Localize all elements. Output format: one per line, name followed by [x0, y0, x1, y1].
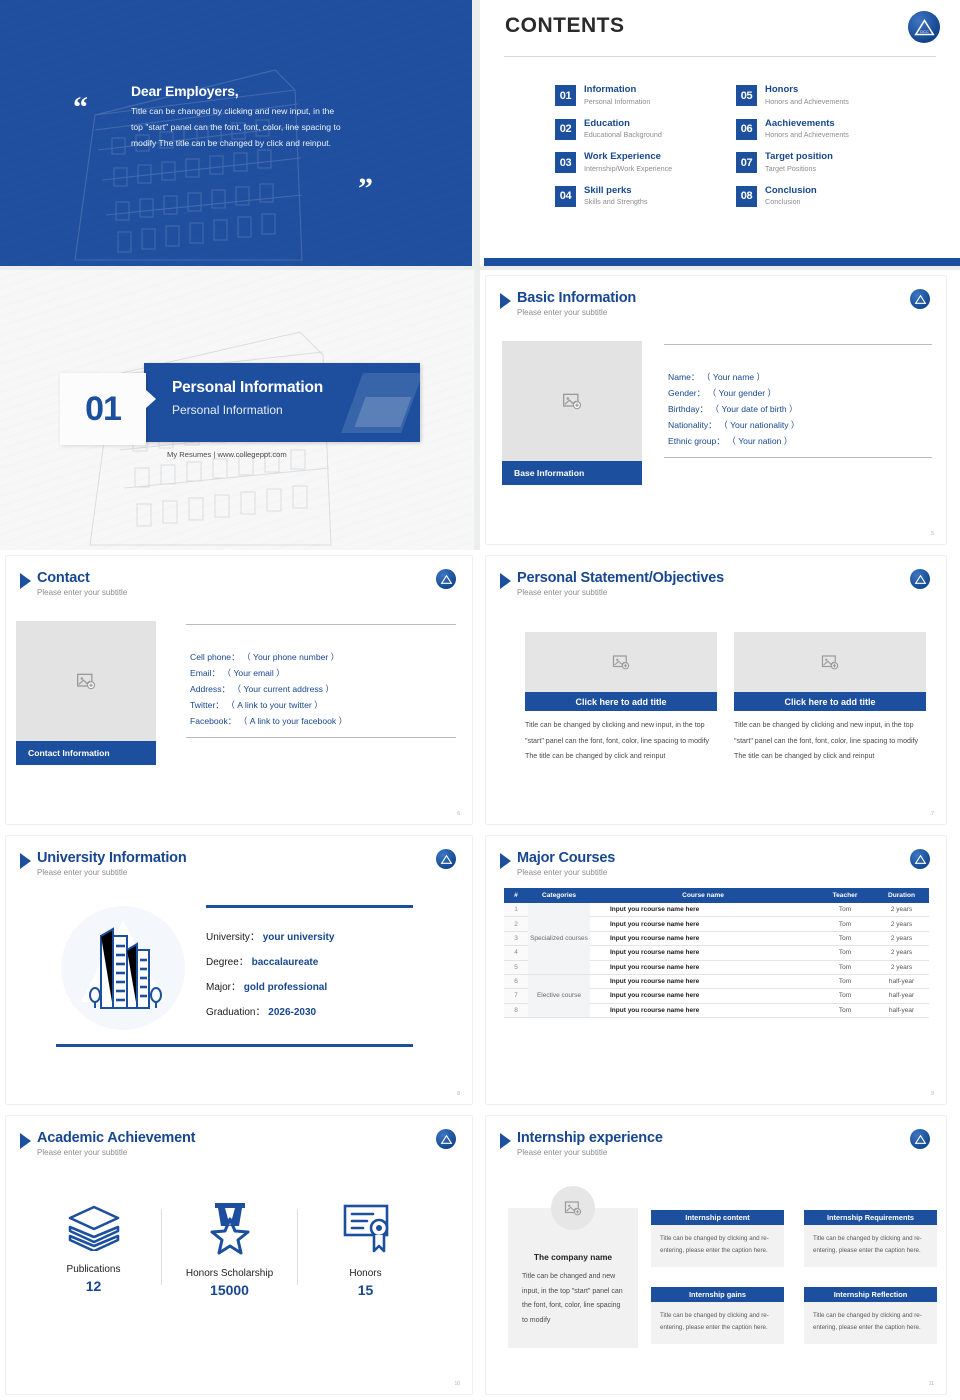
- info-value: （ Your name ）: [702, 372, 765, 382]
- brand-logo: DCC: [908, 11, 940, 43]
- contents-item-sub: Conclusion: [765, 197, 817, 206]
- cell-duration: 2 years: [874, 960, 929, 974]
- page-subtitle: Please enter your subtitle: [517, 588, 724, 597]
- university-row: Graduation： 2026-2030: [206, 1003, 334, 1018]
- info-row: Name： （ Your name ）: [668, 370, 932, 386]
- university-field-list: University： your university Degree： bacc…: [206, 928, 334, 1018]
- page-title: Personal Statement/Objectives: [517, 570, 724, 587]
- brand-logo: [436, 569, 456, 589]
- info-value: （ Your current address ）: [233, 684, 334, 694]
- cell-duration: half-year: [874, 989, 929, 1003]
- card-body: Title can be changed by clicking and re-…: [651, 1302, 784, 1344]
- slide-deck: “ ” Dear Employers, Title can be changed…: [0, 0, 960, 1400]
- top-rule: [206, 905, 413, 908]
- section-byline: My Resumes | www.collegeppt.com: [167, 450, 287, 459]
- slide-header: University Information Please enter your…: [20, 850, 187, 877]
- quote-close-mark: ”: [358, 180, 373, 198]
- contents-grid: 01 Information Personal Information 05 H…: [555, 85, 905, 219]
- triangle-logo-icon: [440, 853, 453, 866]
- brand-logo: [436, 849, 456, 869]
- contents-item[interactable]: 03 Work Experience Internship/Work Exper…: [555, 152, 724, 173]
- info-value: （ Your phone number ）: [242, 652, 339, 662]
- internship-card[interactable]: Internship Requirements Title can be cha…: [804, 1210, 937, 1267]
- header-triangle-icon: [500, 853, 511, 869]
- info-row: Cell phone： （ Your phone number ）: [190, 650, 456, 666]
- info-value: （ A link to your facebook ）: [239, 716, 347, 726]
- row-value: gold professional: [244, 982, 327, 993]
- internship-card[interactable]: Internship content Title can be changed …: [651, 1210, 784, 1267]
- cover-quote-block: Dear Employers, Title can be changed by …: [131, 83, 346, 152]
- contents-item-sub: Educational Background: [584, 130, 662, 139]
- slide-internship-experience: Internship experience Please enter your …: [480, 1110, 960, 1400]
- row-value: baccalaureate: [252, 957, 319, 968]
- photo-placeholder[interactable]: [734, 632, 926, 692]
- bottom-rule: [56, 1044, 413, 1047]
- brand-logo: [910, 289, 930, 309]
- info-label: Nationality：: [668, 420, 717, 430]
- page-subtitle: Please enter your subtitle: [517, 868, 615, 877]
- page-number: 9: [931, 1091, 934, 1097]
- stat-item: Publications 12: [36, 1201, 151, 1294]
- card-title-bar[interactable]: Click here to add title: [525, 692, 717, 711]
- triangle-logo-icon: [914, 1133, 927, 1146]
- company-card: The company name Title can be changed an…: [508, 1208, 638, 1348]
- header-triangle-icon: [20, 853, 31, 869]
- contents-item[interactable]: 05 Honors Honors and Achievements: [736, 85, 905, 106]
- contents-item-title: Education: [584, 119, 662, 129]
- card-body: Title can be changed by clicking and re-…: [804, 1225, 937, 1267]
- stat-divider: [297, 1209, 298, 1285]
- company-body: Title can be changed and new input, in t…: [522, 1270, 626, 1329]
- contents-number: 08: [736, 186, 757, 207]
- card-header: Internship gains: [651, 1287, 784, 1302]
- contents-number: 03: [555, 152, 576, 173]
- page-title: Basic Information: [517, 290, 636, 307]
- contents-item-sub: Internship/Work Experience: [584, 164, 672, 173]
- row-value: 2026-2030: [268, 1007, 316, 1018]
- contents-number: 01: [555, 85, 576, 106]
- triangle-logo-icon: [440, 1133, 453, 1146]
- row-label: Degree：: [206, 957, 249, 968]
- photo-placeholder[interactable]: [16, 621, 156, 741]
- info-row: Email： （ Your email ）: [190, 666, 456, 682]
- contents-item[interactable]: 04 Skill perks Skills and Strengths: [555, 186, 724, 207]
- cell-course: Input you rcourse name here: [590, 903, 816, 917]
- cell-category: Specialized courses: [528, 903, 590, 974]
- page-title: Internship experience: [517, 1130, 663, 1147]
- cover-title: Dear Employers,: [131, 83, 346, 99]
- triangle-logo-icon: [914, 293, 927, 306]
- card-body: Title can be changed by clicking and new…: [525, 718, 717, 765]
- info-row: Birthday： （ Your date of birth ）: [668, 402, 932, 418]
- triangle-logo-icon: [914, 573, 927, 586]
- contents-rule: [504, 56, 936, 57]
- cell-course: Input you rcourse name here: [590, 960, 816, 974]
- slide-gap-right: [472, 0, 480, 270]
- photo-caption-bar: Contact Information: [16, 741, 156, 765]
- cell-course: Input you rcourse name here: [590, 989, 816, 1003]
- stat-value: 15000: [172, 1282, 287, 1298]
- cell-course: Input you rcourse name here: [590, 974, 816, 988]
- triangle-logo-icon: [440, 573, 453, 586]
- cell-duration: 2 years: [874, 931, 929, 945]
- card-header: Internship Requirements: [804, 1210, 937, 1225]
- cell-teacher: Tom: [816, 931, 874, 945]
- slide-header: Internship experience Please enter your …: [500, 1130, 663, 1157]
- stat-item: Honors 15: [308, 1201, 423, 1298]
- info-value: （ A link to your twitter ）: [226, 700, 322, 710]
- image-placeholder-icon: [76, 671, 96, 691]
- contents-item-sub: Honors and Achievements: [765, 97, 849, 106]
- university-row: Degree： baccalaureate: [206, 953, 334, 968]
- contents-item-title: Aachievements: [765, 119, 849, 129]
- brand-logo: [910, 849, 930, 869]
- slide-academic-achievement: Academic Achievement Please enter your s…: [0, 1110, 480, 1400]
- cell-teacher: Tom: [816, 974, 874, 988]
- cell-category: Elective course: [528, 974, 590, 1017]
- header-triangle-icon: [20, 573, 31, 589]
- cover-body: Title can be changed by clicking and new…: [131, 104, 346, 152]
- section-number-box: 01: [60, 373, 146, 445]
- header-triangle-icon: [20, 1133, 31, 1149]
- card-header: Internship Reflection: [804, 1287, 937, 1302]
- header-triangle-icon: [500, 293, 511, 309]
- basic-info-field-list: Name： （ Your name ） Gender： （ Your gende…: [664, 344, 932, 458]
- stat-label: Publications: [36, 1264, 151, 1275]
- contents-item[interactable]: 02 Education Educational Background: [555, 119, 724, 140]
- slide-contact: Contact Please enter your subtitle Co: [0, 550, 480, 830]
- page-number: 5: [931, 531, 934, 537]
- row-label: Graduation：: [206, 1007, 265, 1018]
- cell-index: 5: [504, 960, 528, 974]
- books-icon: [65, 1201, 123, 1251]
- page-number: 11: [929, 1381, 934, 1387]
- university-building-icon: [61, 898, 206, 1048]
- internship-card[interactable]: Internship Reflection Title can be chang…: [804, 1287, 937, 1344]
- slide-cover: “ ” Dear Employers, Title can be changed…: [0, 0, 480, 270]
- cell-duration: half-year: [874, 974, 929, 988]
- contents-item-sub: Target Positions: [765, 164, 833, 173]
- card-header: Internship content: [651, 1210, 784, 1225]
- contents-number: 02: [555, 119, 576, 140]
- slide-header: Basic Information Please enter your subt…: [500, 290, 636, 317]
- brand-logo: [910, 1129, 930, 1149]
- cell-duration: half-year: [874, 1003, 929, 1017]
- achievement-stats: Publications 12 Honors Scholarship 15000: [36, 1201, 423, 1298]
- contents-item-sub: Personal Information: [584, 97, 650, 106]
- contents-bottom-bar: [484, 258, 960, 266]
- contents-item[interactable]: 01 Information Personal Information: [555, 85, 724, 106]
- table-row: 1 Specialized courses Input you rcourse …: [504, 903, 929, 917]
- contents-number: 07: [736, 152, 757, 173]
- card-body: Title can be changed by clicking and new…: [734, 718, 926, 765]
- info-label: Birthday：: [668, 404, 708, 414]
- card-body: Title can be changed by clicking and re-…: [804, 1302, 937, 1344]
- page-number: 6: [457, 811, 460, 817]
- internship-card[interactable]: Internship gains Title can be changed by…: [651, 1287, 784, 1344]
- cell-index: 7: [504, 989, 528, 1003]
- cell-teacher: Tom: [816, 903, 874, 917]
- section-banner: Personal Information Personal Informatio…: [144, 363, 420, 442]
- cell-teacher: Tom: [816, 1003, 874, 1017]
- contents-number: 05: [736, 85, 757, 106]
- photo-caption-bar: Base Information: [502, 461, 642, 485]
- cell-course: Input you rcourse name here: [590, 917, 816, 931]
- brand-logo: [910, 569, 930, 589]
- info-label: Cell phone：: [190, 652, 240, 662]
- company-avatar[interactable]: [551, 1186, 595, 1230]
- medal-icon: [201, 1201, 259, 1255]
- cell-index: 1: [504, 903, 528, 917]
- contents-item[interactable]: 06 Aachievements Honors and Achievements: [736, 119, 905, 140]
- section-subtitle: Personal Information: [172, 403, 283, 417]
- page-subtitle: Please enter your subtitle: [37, 1148, 195, 1157]
- contents-item-title: Skill perks: [584, 186, 648, 196]
- slide-basic-information: Basic Information Please enter your subt…: [480, 270, 960, 550]
- info-row: Facebook： （ A link to your facebook ）: [190, 714, 456, 730]
- cell-index: 2: [504, 917, 528, 931]
- info-label: Twitter：: [190, 700, 224, 710]
- contents-item-title: Conclusion: [765, 186, 817, 196]
- section-arrow-icon: [146, 390, 156, 408]
- cell-course: Input you rcourse name here: [590, 931, 816, 945]
- page-subtitle: Please enter your subtitle: [37, 868, 187, 877]
- certificate-icon: [337, 1201, 395, 1255]
- brand-logo: [436, 1129, 456, 1149]
- page-title: Contact: [37, 570, 127, 587]
- contents-item-title: Work Experience: [584, 152, 672, 162]
- triangle-logo-icon: DCC: [914, 17, 935, 38]
- page-number: 10: [454, 1381, 460, 1387]
- slide-header: Personal Statement/Objectives Please ent…: [500, 570, 724, 597]
- page-subtitle: Please enter your subtitle: [517, 1148, 663, 1157]
- table-row: 6 Elective course Input you rcourse name…: [504, 974, 929, 988]
- page-subtitle: Please enter your subtitle: [517, 308, 636, 317]
- card-title-bar[interactable]: Click here to add title: [734, 692, 926, 711]
- slide-header: Major Courses Please enter your subtitle: [500, 850, 615, 877]
- col-duration: Duration: [874, 888, 929, 903]
- stat-label: Honors Scholarship: [172, 1268, 287, 1279]
- section-number: 01: [85, 390, 121, 429]
- cell-index: 8: [504, 1003, 528, 1017]
- slide-header: Contact Please enter your subtitle: [20, 570, 127, 597]
- info-row: Gender： （ Your gender ）: [668, 386, 932, 402]
- col-categories: Categories: [528, 888, 590, 903]
- header-triangle-icon: [500, 573, 511, 589]
- info-value: （ Your gender ）: [708, 388, 776, 398]
- contents-item-title: Target position: [765, 152, 833, 162]
- page-number: 8: [457, 1091, 460, 1097]
- contents-item[interactable]: 07 Target position Target Positions: [736, 152, 905, 173]
- page-title: Academic Achievement: [37, 1130, 195, 1147]
- col-index: #: [504, 888, 528, 903]
- col-course-name: Course name: [590, 888, 816, 903]
- page-title: Major Courses: [517, 850, 615, 867]
- slide-major-courses: Major Courses Please enter your subtitle…: [480, 830, 960, 1110]
- info-label: Address：: [190, 684, 230, 694]
- cell-course: Input you rcourse name here: [590, 1003, 816, 1017]
- info-label: Gender：: [668, 388, 705, 398]
- stat-divider: [161, 1209, 162, 1285]
- image-placeholder-icon: [564, 1199, 582, 1217]
- cell-course: Input you rcourse name here: [590, 946, 816, 960]
- row-value: your university: [263, 932, 335, 943]
- cell-duration: 2 years: [874, 946, 929, 960]
- university-row: University： your university: [206, 928, 334, 943]
- statement-card[interactable]: Click here to add title Title can be cha…: [525, 632, 717, 765]
- contents-title: CONTENTS: [505, 14, 625, 38]
- list-bottom-rule: [186, 737, 456, 738]
- cell-teacher: Tom: [816, 989, 874, 1003]
- company-name: The company name: [508, 1252, 638, 1262]
- slide-section-divider: Personal Information Personal Informatio…: [0, 270, 480, 550]
- cell-duration: 2 years: [874, 903, 929, 917]
- info-value: （ Your nation ）: [727, 436, 792, 446]
- table-header-row: # Categories Course name Teacher Duratio…: [504, 888, 929, 903]
- col-teacher: Teacher: [816, 888, 874, 903]
- info-label: Name：: [668, 372, 700, 382]
- contents-item-sub: Skills and Strengths: [584, 197, 648, 206]
- info-value: （ Your date of birth ）: [711, 404, 798, 414]
- contents-item-sub: Honors and Achievements: [765, 130, 849, 139]
- statement-card[interactable]: Click here to add title Title can be cha…: [734, 632, 926, 765]
- row-label: University：: [206, 932, 260, 943]
- image-placeholder-icon: [821, 653, 839, 671]
- slide-header: Academic Achievement Please enter your s…: [20, 1130, 195, 1157]
- page-subtitle: Please enter your subtitle: [37, 588, 127, 597]
- contents-item[interactable]: 08 Conclusion Conclusion: [736, 186, 905, 207]
- section-title: Personal Information: [172, 379, 323, 397]
- contact-field-list: Cell phone： （ Your phone number ） Email：…: [186, 624, 456, 738]
- card-body: Title can be changed by clicking and re-…: [651, 1225, 784, 1267]
- page-title: University Information: [37, 850, 187, 867]
- info-row: Address： （ Your current address ）: [190, 682, 456, 698]
- info-row: Twitter： （ A link to your twitter ）: [190, 698, 456, 714]
- stat-label: Honors: [308, 1268, 423, 1279]
- info-label: Email：: [190, 668, 220, 678]
- photo-placeholder[interactable]: [525, 632, 717, 692]
- cell-index: 3: [504, 931, 528, 945]
- contents-number: 06: [736, 119, 757, 140]
- svg-text:DCC: DCC: [920, 28, 929, 33]
- info-row: Ethnic group： （ Your nation ）: [668, 434, 932, 450]
- university-row: Major： gold professional: [206, 978, 334, 993]
- image-placeholder-icon: [562, 391, 582, 411]
- contents-item-title: Honors: [765, 85, 849, 95]
- info-label: Facebook：: [190, 716, 236, 726]
- courses-table: # Categories Course name Teacher Duratio…: [504, 888, 929, 1018]
- list-bottom-rule: [664, 457, 932, 458]
- stat-value: 12: [36, 1278, 151, 1294]
- page-number: 7: [931, 811, 934, 817]
- cell-index: 4: [504, 946, 528, 960]
- cell-teacher: Tom: [816, 946, 874, 960]
- info-row: Nationality： （ Your nationality ）: [668, 418, 932, 434]
- photo-placeholder[interactable]: [502, 341, 642, 461]
- slide-personal-statement: Personal Statement/Objectives Please ent…: [480, 550, 960, 830]
- info-label: Ethnic group：: [668, 436, 725, 446]
- cell-teacher: Tom: [816, 917, 874, 931]
- slide-contents: CONTENTS DCC 01 Information Personal Inf…: [480, 0, 960, 270]
- row-label: Major：: [206, 982, 241, 993]
- quote-open-mark: “: [73, 99, 88, 117]
- cell-index: 6: [504, 974, 528, 988]
- contents-number: 04: [555, 186, 576, 207]
- stat-value: 15: [308, 1282, 423, 1298]
- contents-item-title: Information: [584, 85, 650, 95]
- triangle-logo-icon: [914, 853, 927, 866]
- info-value: （ Your nationality ）: [719, 420, 799, 430]
- header-triangle-icon: [500, 1133, 511, 1149]
- slide-university-information: University Information Please enter your…: [0, 830, 480, 1110]
- cell-duration: 2 years: [874, 917, 929, 931]
- image-placeholder-icon: [612, 653, 630, 671]
- info-value: （ Your email ）: [222, 668, 284, 678]
- stat-item: Honors Scholarship 15000: [172, 1201, 287, 1298]
- cell-teacher: Tom: [816, 960, 874, 974]
